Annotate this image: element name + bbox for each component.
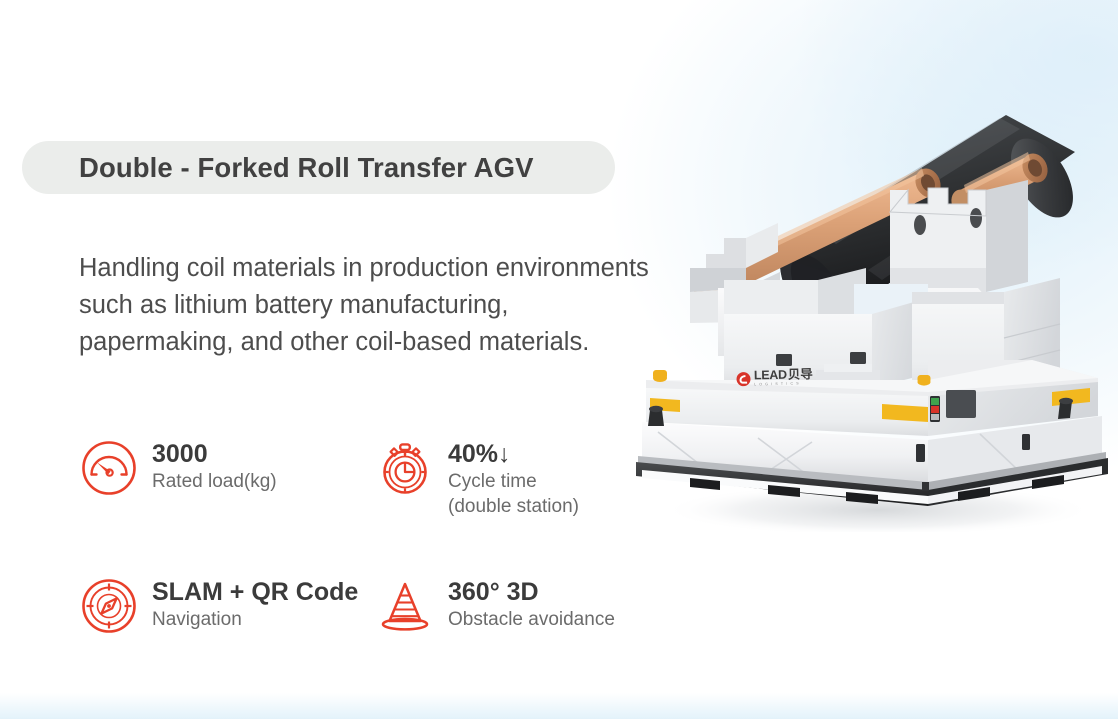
spec-value: 40%↓ [448, 440, 579, 469]
spec-text-cycle-time: 40%↓ Cycle time (double station) [448, 437, 579, 519]
spec-label: Cycle time [448, 469, 579, 494]
spec-row-2: SLAM + QR Code Navigation [80, 575, 640, 635]
description-text: Handling coil materials in production en… [79, 250, 649, 360]
brand-logo-line: LEAD 贝导 [754, 368, 813, 382]
spec-text-obstacle-avoidance: 360° 3D Obstacle avoidance [448, 575, 615, 632]
spec-label: Rated load(kg) [152, 469, 277, 494]
spec-grid: 3000 Rated load(kg) [80, 437, 640, 635]
spec-row-1: 3000 Rated load(kg) [80, 437, 640, 519]
spec-label: Obstacle avoidance [448, 607, 615, 632]
product-slide: Double - Forked Roll Transfer AGV Handli… [0, 0, 1118, 719]
title-pill: Double - Forked Roll Transfer AGV [22, 141, 615, 194]
spec-text-rated-load: 3000 Rated load(kg) [152, 437, 277, 494]
spec-label: Navigation [152, 607, 358, 632]
spec-item-rated-load: 3000 Rated load(kg) [80, 437, 376, 519]
compass-icon [80, 577, 138, 635]
product-image-agv [628, 92, 1118, 532]
spec-text-navigation: SLAM + QR Code Navigation [152, 575, 358, 632]
brand-logo: LEAD 贝导 L O G I S T I C S [736, 368, 813, 388]
brand-name-en: LEAD [754, 369, 787, 383]
spec-item-cycle-time: 40%↓ Cycle time (double station) [376, 437, 636, 519]
spec-value: 360° 3D [448, 578, 615, 607]
gauge-icon [80, 439, 138, 497]
stopwatch-icon [376, 439, 434, 497]
lead-logo-mark-icon [736, 371, 751, 386]
brand-name-cn: 贝导 [788, 368, 813, 382]
spec-value: SLAM + QR Code [152, 578, 358, 607]
spec-item-obstacle-avoidance: 360° 3D Obstacle avoidance [376, 575, 636, 635]
traffic-cone-icon [376, 577, 434, 635]
brand-logo-words: LEAD 贝导 L O G I S T I C S [754, 368, 813, 387]
spec-value: 3000 [152, 440, 277, 469]
background-bottom-wash [0, 693, 1118, 719]
spec-item-navigation: SLAM + QR Code Navigation [80, 575, 376, 635]
page-title: Double - Forked Roll Transfer AGV [79, 152, 534, 184]
spec-label-secondary: (double station) [448, 494, 579, 519]
